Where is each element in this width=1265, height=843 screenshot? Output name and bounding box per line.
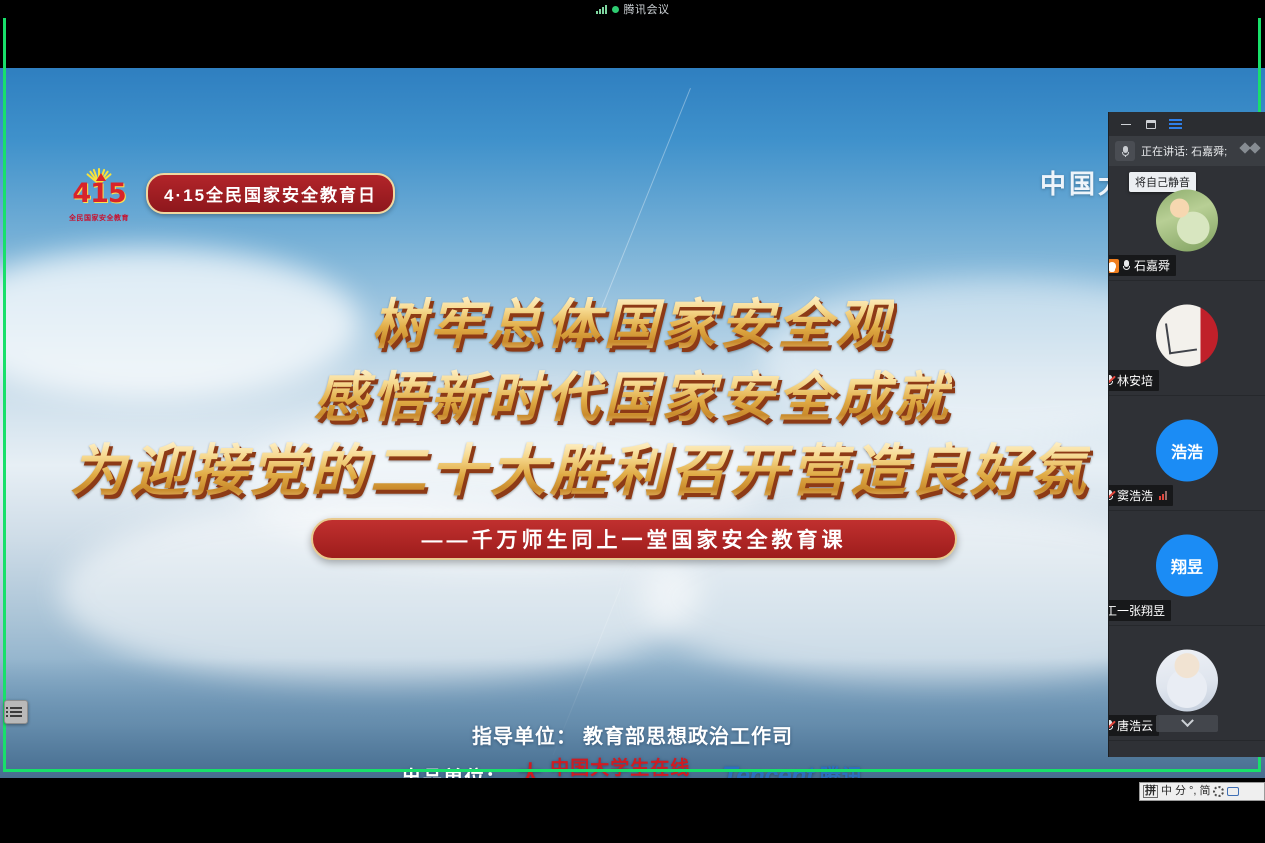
avatar: 浩浩 <box>1156 420 1218 482</box>
mic-on-icon <box>1122 260 1131 272</box>
speaking-status-bar: 正在讲话: 石嘉舜; <box>1109 136 1265 166</box>
logo-number: 415 <box>62 178 136 209</box>
weak-signal-icon <box>1159 491 1167 500</box>
participant-name: 唐浩云 <box>1117 717 1153 734</box>
participant-name-row: 唐浩云 <box>1109 715 1159 736</box>
headline-text: 为迎接党的二十大胜利召开营造良好氛 <box>70 438 1090 504</box>
credits-block: 指导单位： 教育部思想政治工作司 出品单位： 大 中国大学生在线 dxs.moe… <box>0 713 1265 778</box>
participant-card-3[interactable]: 翔昱 工一张翔昱 <box>1109 511 1265 626</box>
speaking-status-text: 正在讲话: 石嘉舜; <box>1141 143 1227 159</box>
ime-simplified-icon[interactable]: 简 <box>1199 786 1210 797</box>
keyboard-icon[interactable] <box>1227 787 1239 796</box>
mic-off-icon <box>1109 720 1114 732</box>
tencent-cn: 腾讯 <box>820 761 864 778</box>
avatar: 翔昱 <box>1156 535 1218 597</box>
security-day-badge: 4·15全民国家安全教育日 <box>146 173 395 214</box>
participant-name-row: 工一张翔昱 <box>1109 600 1171 621</box>
mic-off-icon <box>1109 375 1114 387</box>
dxs-mark-icon: 大 <box>518 764 543 778</box>
participant-name-row: 林安培 <box>1109 370 1159 391</box>
ime-punctuation-icon[interactable]: °, <box>1189 786 1196 797</box>
drag-handle-icon[interactable] <box>1241 144 1259 152</box>
ime-language-toggle[interactable]: 中 <box>1161 786 1172 797</box>
os-top-bar: 腾讯会议 <box>0 0 1265 18</box>
avatar <box>1156 190 1218 252</box>
subtitle-banner: ——千万师生同上一堂国家安全教育课 <box>311 518 957 560</box>
minimize-icon[interactable] <box>1119 118 1132 131</box>
producer-label: 出品单位： <box>401 762 506 779</box>
logo-subtext: 全民国家安全教育 <box>62 213 136 223</box>
participant-name: 林安培 <box>1117 372 1153 389</box>
tencent-logo: Tencent 腾讯 <box>722 761 863 778</box>
list-menu-button[interactable] <box>4 700 28 724</box>
ime-toolbar[interactable]: 拼 中 分 °, 简 <box>1139 782 1265 801</box>
credit-row-guide: 指导单位： 教育部思想政治工作司 <box>0 713 1265 755</box>
screen-root: 腾讯会议 415 全民国家安全教育 4·15全民国家安全教育日 <box>0 0 1265 843</box>
signal-bars-icon <box>596 5 607 14</box>
participant-name: 石嘉舜 <box>1134 257 1170 274</box>
list-icon <box>10 707 22 717</box>
app-title: 腾讯会议 <box>624 1 670 17</box>
security-day-logo: 415 全民国家安全教育 4·15全民国家安全教育日 <box>62 164 395 222</box>
shared-screen-content: 415 全民国家安全教育 4·15全民国家安全教育日 中国大学生在线 树牢总体国… <box>0 68 1265 778</box>
green-dot-icon <box>612 6 619 13</box>
host-badge-icon <box>1109 259 1119 273</box>
dxs-name: 中国大学生在线 <box>550 759 690 778</box>
credit-row-producer: 出品单位： 大 中国大学生在线 dxs.moe.gov.cn Tencent 腾… <box>0 755 1265 778</box>
gear-icon[interactable] <box>1213 786 1224 797</box>
headline-text: 树牢总体国家安全观 <box>372 292 894 356</box>
bottom-black-area <box>0 778 1265 843</box>
guide-value: 教育部思想政治工作司 <box>583 720 793 749</box>
headline-text: 感悟新时代国家安全成就 <box>314 365 952 429</box>
maximize-icon[interactable] <box>1144 118 1157 131</box>
ime-pinyin-mode[interactable]: 拼 <box>1143 785 1158 798</box>
microphone-icon[interactable] <box>1115 141 1135 161</box>
avatar <box>1156 305 1218 367</box>
participant-card-4[interactable]: 唐浩云 <box>1109 626 1265 741</box>
headline-line-2: 感悟新时代国家安全成就 <box>0 353 1265 432</box>
ime-fullwidth-icon[interactable]: 分 <box>1175 786 1186 797</box>
participant-name-row: 窦浩浩 <box>1109 485 1173 506</box>
list-view-icon[interactable] <box>1169 118 1182 131</box>
guide-label: 指导单位： <box>472 720 577 749</box>
participant-name: 工一张翔昱 <box>1109 602 1165 619</box>
participant-panel: 正在讲话: 石嘉舜; 将自己静音 石嘉舜 林安培 <box>1108 112 1265 757</box>
dxs-logo: 大 中国大学生在线 dxs.moe.gov.cn <box>518 759 690 778</box>
participant-card-1[interactable]: 林安培 <box>1109 281 1265 396</box>
scroll-down-button[interactable] <box>1156 715 1218 732</box>
logo-415-icon: 415 全民国家安全教育 <box>62 164 136 222</box>
headline-line-3: 为迎接党的二十大胜利召开营造良好氛 <box>70 426 1230 507</box>
participant-name-row: 石嘉舜 <box>1109 255 1176 276</box>
panel-titlebar <box>1109 112 1265 136</box>
participant-card-0[interactable]: 将自己静音 石嘉舜 <box>1109 166 1265 281</box>
participant-list[interactable]: 将自己静音 石嘉舜 林安培 浩浩 窦浩浩 <box>1109 166 1265 757</box>
headline-line-1: 树牢总体国家安全观 <box>0 280 1265 359</box>
mic-off-icon <box>1109 490 1114 502</box>
tencent-en: Tencent <box>722 762 813 778</box>
avatar <box>1156 650 1218 712</box>
participant-card-2[interactable]: 浩浩 窦浩浩 <box>1109 396 1265 511</box>
participant-name: 窦浩浩 <box>1117 487 1153 504</box>
